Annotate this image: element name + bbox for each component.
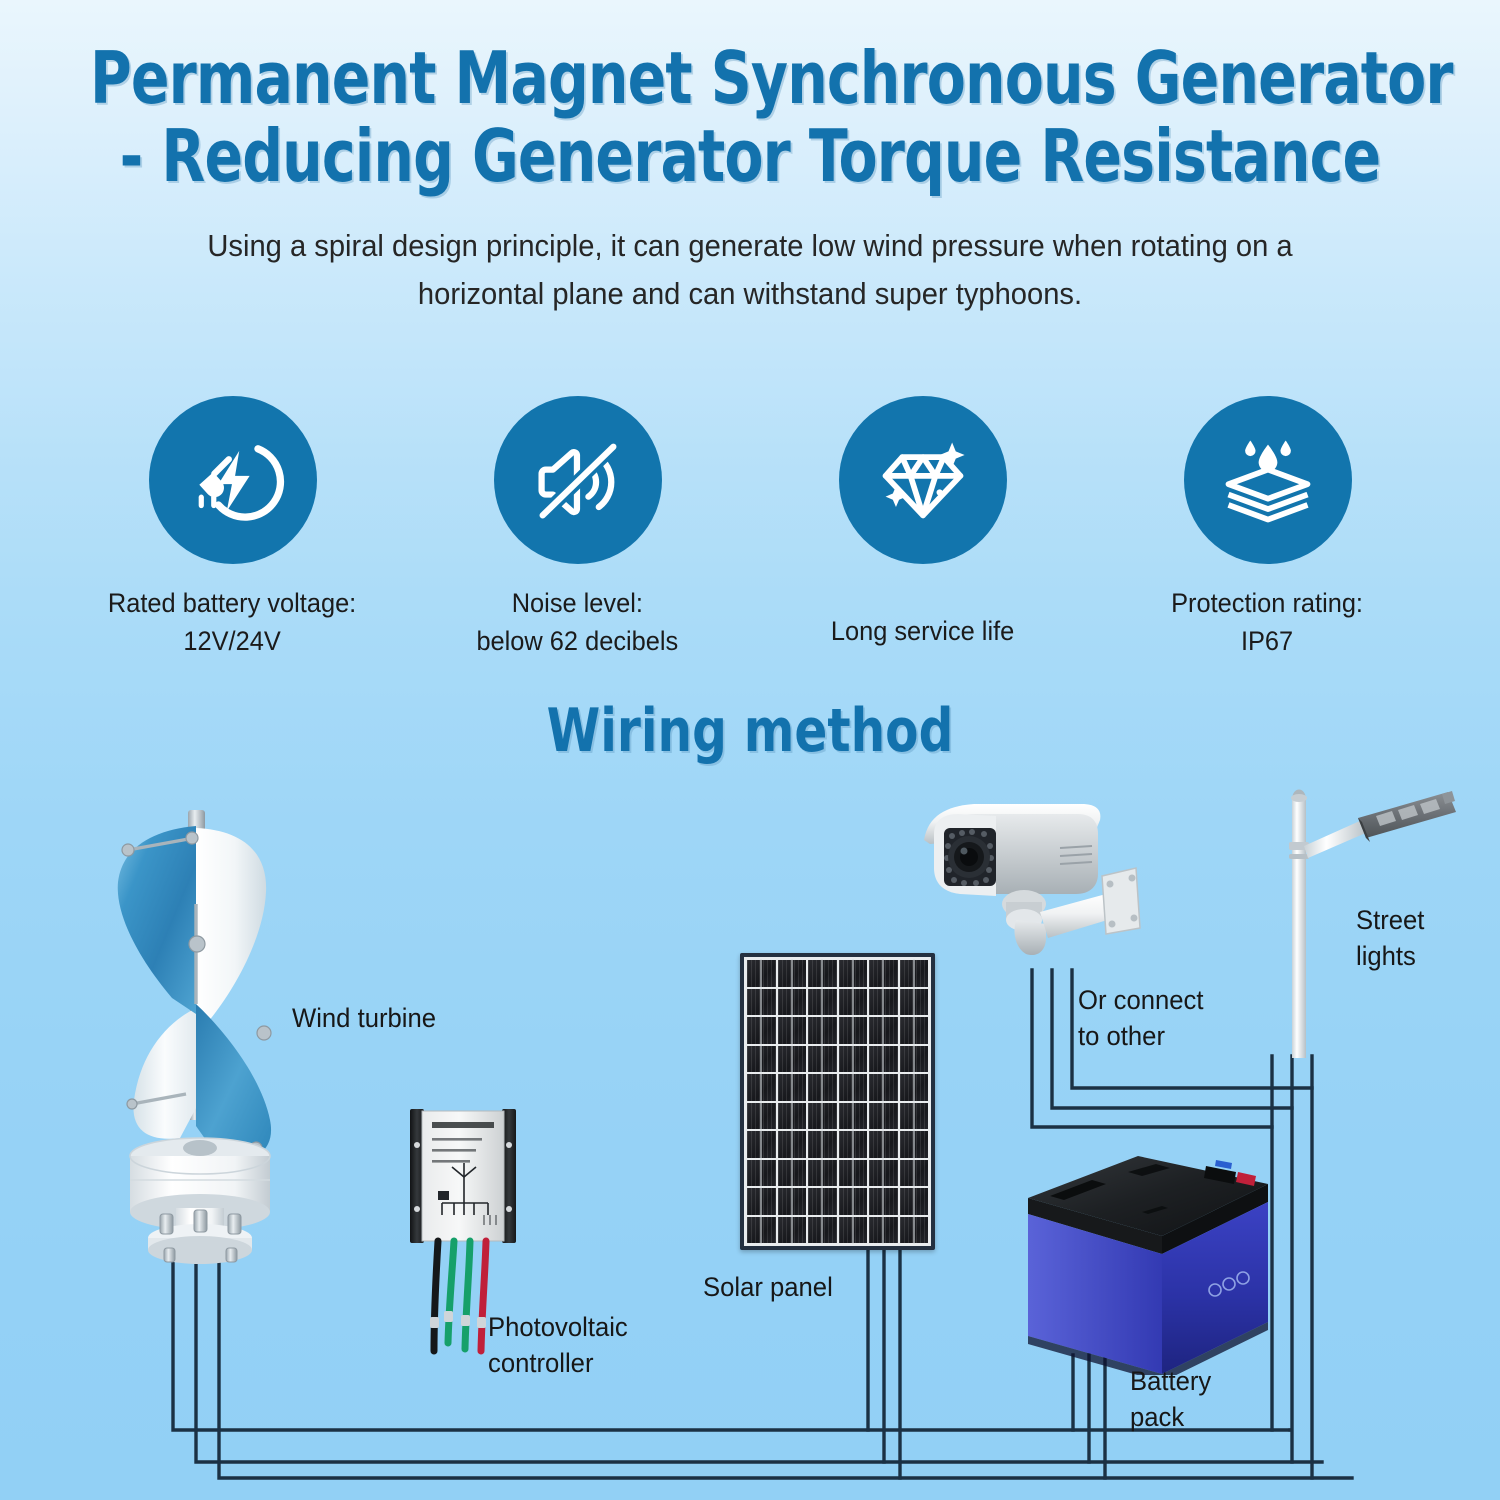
label-solar-panel: Solar panel xyxy=(703,1270,833,1306)
solar-panel-frame xyxy=(740,953,935,1250)
label-or-connect-to-other: Or connect to other xyxy=(1078,983,1203,1054)
label-battery-pack: Battery pack xyxy=(1130,1364,1211,1435)
label-street-lights: Street lights xyxy=(1356,903,1424,974)
solar-panel-image xyxy=(740,953,935,1250)
label-wind-turbine: Wind turbine xyxy=(292,1001,436,1037)
label-photovoltaic-controller: Photovoltaic controller xyxy=(488,1310,628,1381)
wiring-diagram: Wind turbine xyxy=(0,0,1500,1500)
solar-panel-cell-grid xyxy=(744,957,931,1246)
wind-turbine-image xyxy=(60,808,340,1268)
cctv-camera-image xyxy=(900,788,1150,968)
battery-pack-image xyxy=(1010,1150,1280,1375)
